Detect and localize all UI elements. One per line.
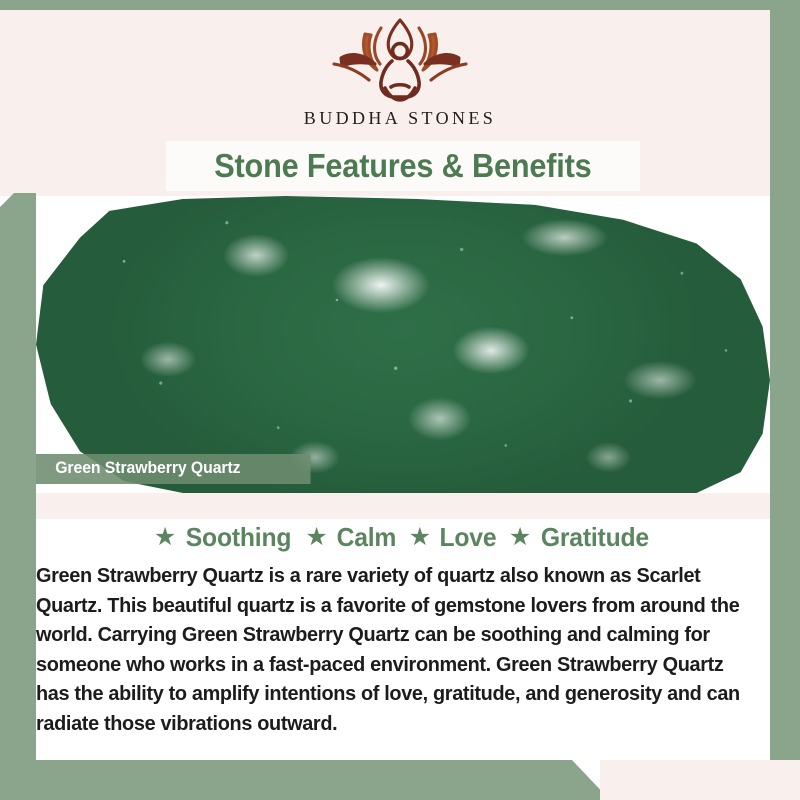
frame-left-bar (0, 193, 36, 800)
feature-list: ★ Soothing ★ Calm ★ Love ★ Gratitude (36, 519, 770, 553)
feature-label: Gratitude (541, 522, 649, 553)
feature-item: ★ Love (409, 522, 498, 553)
feature-label: Soothing (186, 522, 291, 553)
hero-caption: Green Strawberry Quartz (36, 454, 311, 484)
hero-image: Green Strawberry Quartz (36, 196, 770, 493)
content-panel: ★ Soothing ★ Calm ★ Love ★ Gratitude Gre… (36, 519, 770, 760)
description-paragraph: Green Strawberry Quartz is a rare variet… (36, 562, 759, 739)
feature-item: ★ Soothing (154, 522, 294, 553)
page-title: Stone Features & Benefits (214, 147, 591, 185)
infographic-poster: BUDDHA STONES Stone Features & Benefits … (0, 0, 800, 800)
feature-label: Calm (336, 522, 396, 553)
lotus-meditation-figure-icon (325, 14, 475, 106)
star-icon: ★ (509, 525, 531, 550)
star-icon: ★ (305, 525, 327, 550)
brand-block: BUDDHA STONES (0, 14, 800, 129)
frame-top-bar (0, 0, 800, 10)
brand-name: BUDDHA STONES (0, 108, 800, 129)
feature-item: ★ Gratitude (509, 522, 652, 553)
feature-item: ★ Calm (305, 522, 397, 553)
star-icon: ★ (154, 525, 176, 550)
feature-label: Love (439, 522, 496, 553)
frame-bottom-bar (0, 760, 610, 800)
star-icon: ★ (409, 525, 431, 550)
section-title-band: Stone Features & Benefits (166, 141, 640, 191)
hero-bottom-cream-strip (36, 493, 770, 519)
gemstone-photo-texture (36, 196, 770, 493)
footer-cream-panel (600, 760, 800, 800)
